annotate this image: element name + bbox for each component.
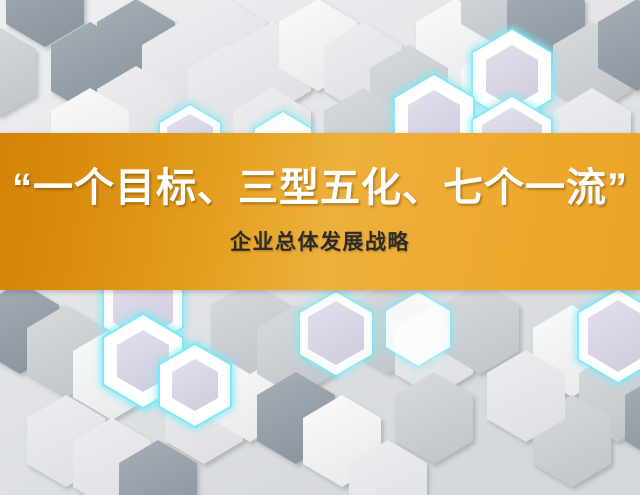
glow-hex-bottom-3	[160, 345, 230, 426]
title-banner: “一个目标、三型五化、七个一流” 企业总体发展战略	[0, 133, 640, 290]
page-subtitle: 企业总体发展战略	[230, 226, 410, 256]
page-title: “一个目标、三型五化、七个一流”	[12, 167, 628, 210]
presentation-slide: “一个目标、三型五化、七个一流” 企业总体发展战略	[0, 0, 640, 495]
title-banner-content: “一个目标、三型五化、七个一流” 企业总体发展战略	[0, 133, 640, 290]
